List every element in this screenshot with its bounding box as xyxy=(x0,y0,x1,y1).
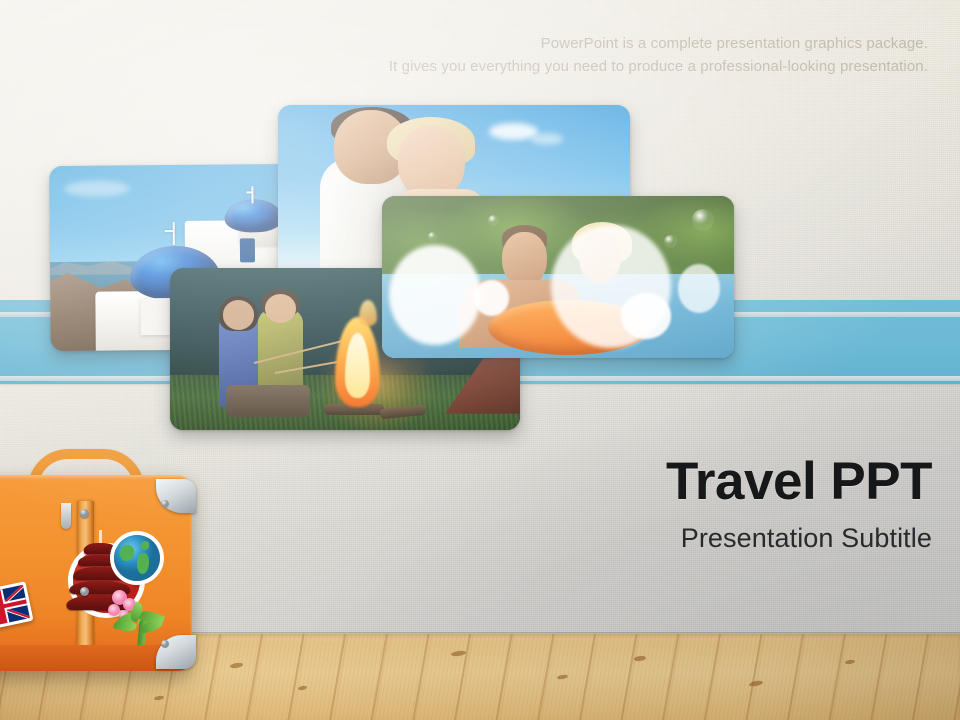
orange-travel-suitcase[interactable] xyxy=(0,449,192,671)
suitcase-corner-bottom-right xyxy=(156,635,196,669)
airplane-postcard-sticker xyxy=(0,661,62,671)
presentation-slide: PowerPoint is a complete presentation gr… xyxy=(0,0,960,720)
header-line-2: It gives you everything you need to prod… xyxy=(389,55,928,78)
header-description: PowerPoint is a complete presentation gr… xyxy=(389,32,928,78)
globe-sticker xyxy=(114,535,160,581)
uk-flag-sticker xyxy=(0,581,34,633)
pool-splash-image xyxy=(382,196,734,358)
suitcase-latch-icon xyxy=(61,503,71,529)
page-title: Travel PPT xyxy=(412,455,932,509)
header-line-1: PowerPoint is a complete presentation gr… xyxy=(389,32,928,55)
page-subtitle: Presentation Subtitle xyxy=(412,523,932,554)
photo-card-pool-splash[interactable] xyxy=(382,196,734,358)
title-block: Travel PPT Presentation Subtitle xyxy=(412,455,932,554)
